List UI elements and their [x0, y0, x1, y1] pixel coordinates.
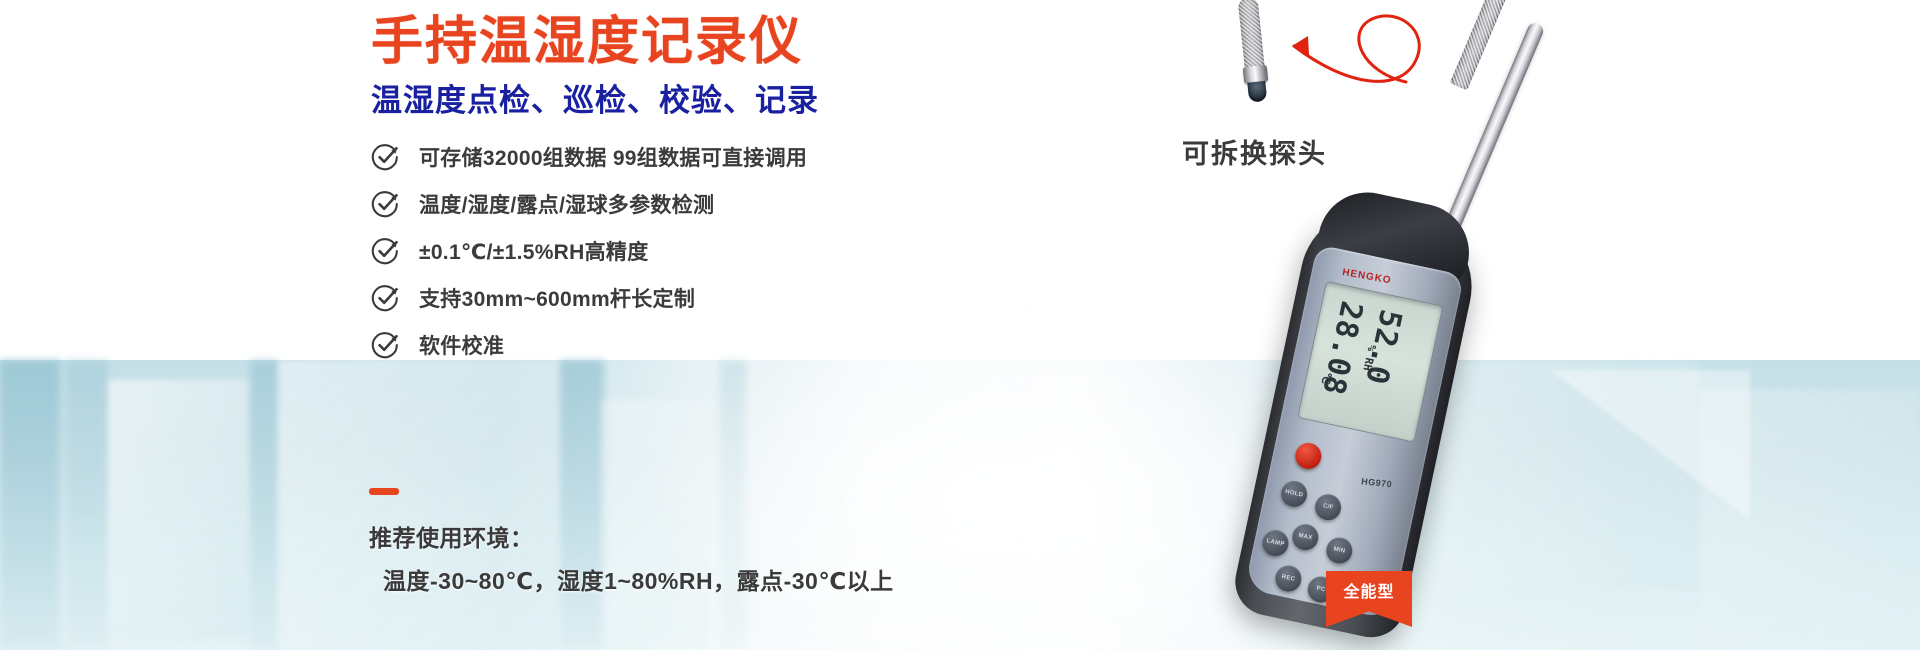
- list-item-label: 软件校准: [419, 330, 504, 360]
- lcd-display: 52.0 % RH 28.08 ℃: [1297, 281, 1443, 443]
- list-item: 支持30mm~600mm杆长定制: [371, 274, 807, 321]
- page-title: 手持温湿度记录仪: [371, 14, 803, 71]
- environment-block: 推荐使用环境： 温度-30~80℃，湿度1~80%RH，露点-30℃以上: [369, 517, 894, 602]
- environment-label: 推荐使用环境：: [369, 517, 894, 560]
- section-divider-dash: [369, 488, 399, 495]
- max-button[interactable]: MAX: [1290, 522, 1321, 553]
- list-item-label: 支持30mm~600mm杆长定制: [419, 283, 695, 313]
- list-item-label: ±0.1℃/±1.5%RH高精度: [419, 236, 649, 266]
- model-number: HG970: [1361, 476, 1393, 489]
- check-circle-icon: [371, 142, 401, 172]
- rec-button[interactable]: REC: [1273, 563, 1304, 594]
- feature-list: 可存储32000组数据 99组数据可直接调用 温度/湿度/露点/湿球多参数检测: [371, 133, 807, 368]
- list-item: ±0.1℃/±1.5%RH高精度: [371, 227, 807, 274]
- list-item: 软件校准: [371, 321, 807, 368]
- check-circle-icon: [371, 189, 401, 219]
- list-item: 温度/湿度/露点/湿球多参数检测: [371, 180, 807, 227]
- cf-button[interactable]: C/F: [1313, 492, 1344, 523]
- power-button[interactable]: [1293, 441, 1324, 472]
- hold-button[interactable]: HOLD: [1279, 478, 1310, 509]
- list-item-label: 可存储32000组数据 99组数据可直接调用: [419, 142, 807, 172]
- check-circle-icon: [371, 236, 401, 266]
- page-subtitle: 温湿度点检、巡检、校验、记录: [371, 82, 819, 119]
- min-button[interactable]: MIN: [1324, 535, 1355, 566]
- environment-detail: 温度-30~80℃，湿度1~80%RH，露点-30℃以上: [369, 560, 894, 603]
- list-item-label: 温度/湿度/露点/湿球多参数检测: [419, 189, 714, 219]
- check-circle-icon: [371, 330, 401, 360]
- product-banner: 手持温湿度记录仪 温湿度点检、巡检、校验、记录 可存储32000组数据 99组数…: [0, 0, 1920, 650]
- check-circle-icon: [371, 283, 401, 313]
- list-item: 可存储32000组数据 99组数据可直接调用: [371, 133, 807, 180]
- copy-column: 手持温湿度记录仪 温湿度点检、巡检、校验、记录 可存储32000组数据 99组数…: [0, 0, 1080, 650]
- status-badge-label: 全能型: [1343, 578, 1394, 602]
- brand-logo: HENGKO: [1341, 267, 1392, 286]
- handheld-meter-device: HENGKO 52.0 % RH 28.08 ℃ HG970 HOLD C/F …: [1285, 45, 1525, 625]
- lcd-temperature-unit: ℃: [1319, 371, 1334, 386]
- lamp-button[interactable]: LAMP: [1260, 528, 1291, 559]
